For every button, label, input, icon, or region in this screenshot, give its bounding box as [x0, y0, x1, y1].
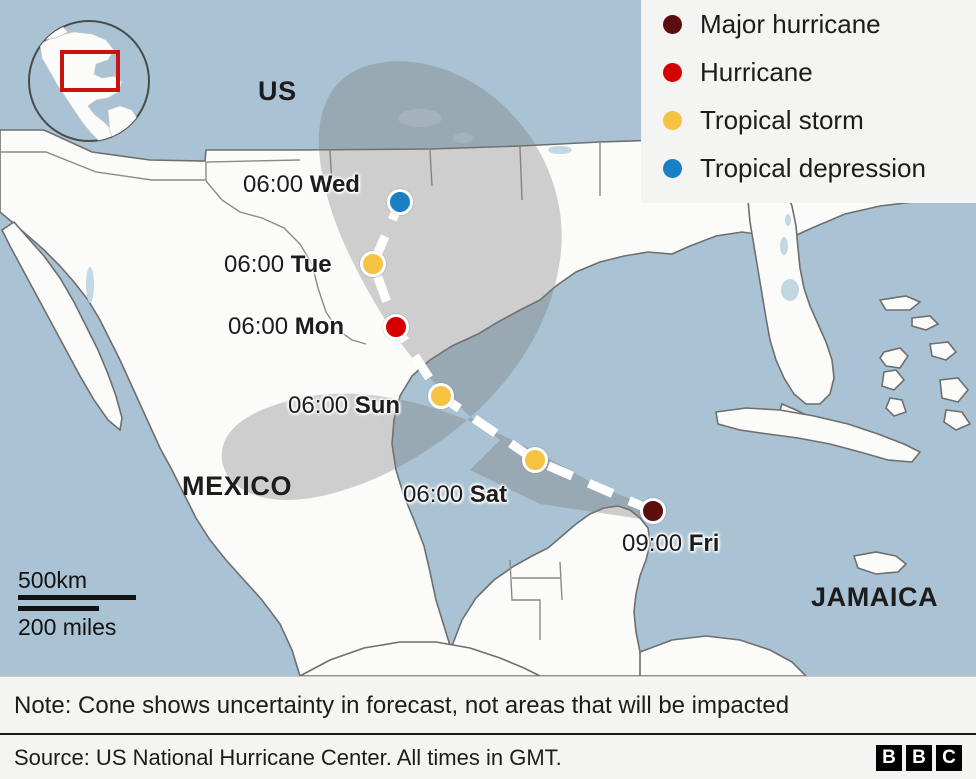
legend-label: Tropical storm [700, 105, 864, 136]
note-bar: Note: Cone shows uncertainty in forecast… [0, 676, 976, 734]
storm-point-wed[interactable] [387, 189, 413, 215]
hurricane-forecast-map-graphic: US MEXICO JAMAICA 09:00 Fri06:00 Sat06:0… [0, 0, 976, 779]
scale-km-label: 500km [18, 568, 193, 592]
globe-locator-inset [22, 14, 156, 148]
bbc-logo: BBC [876, 745, 976, 771]
scale-miles-line [18, 606, 99, 611]
legend-label: Tropical depression [700, 153, 926, 184]
country-label-mexico: MEXICO [182, 471, 292, 502]
legend-label: Hurricane [700, 57, 813, 88]
track-label-time: 06:00 [288, 392, 348, 419]
storm-point-sat[interactable] [522, 447, 548, 473]
scale-km-line [18, 595, 136, 600]
legend-item-0: Major hurricane [641, 0, 976, 48]
bbc-logo-letter-2: C [936, 745, 962, 771]
scale-bar: 500km 200 miles [18, 568, 193, 639]
map-canvas[interactable]: US MEXICO JAMAICA 09:00 Fri06:00 Sat06:0… [0, 0, 976, 676]
track-label-time: 06:00 [403, 481, 463, 508]
dot-icon [663, 159, 682, 178]
legend-panel: Major hurricaneHurricaneTropical stormTr… [641, 0, 976, 203]
track-label-time: 06:00 [243, 171, 303, 198]
storm-point-mon[interactable] [383, 314, 409, 340]
legend-item-3: Tropical depression [641, 144, 976, 192]
scale-miles-label: 200 miles [18, 615, 193, 639]
track-label-day: Wed [310, 171, 360, 198]
track-label-tue: 06:00 Tue [224, 251, 332, 279]
source-text: Source: US National Hurricane Center. Al… [0, 745, 562, 771]
legend-label: Major hurricane [700, 9, 881, 40]
legend-item-2: Tropical storm [641, 96, 976, 144]
legend-rows: Major hurricaneHurricaneTropical stormTr… [641, 0, 976, 192]
dot-icon [663, 63, 682, 82]
track-label-time: 09:00 [622, 530, 682, 557]
source-bar: Source: US National Hurricane Center. Al… [0, 733, 976, 779]
track-label-sun: 06:00 Sun [288, 392, 400, 420]
storm-point-tue[interactable] [360, 251, 386, 277]
storm-point-fri[interactable] [640, 498, 666, 524]
track-label-mon: 06:00 Mon [228, 313, 344, 341]
track-label-wed: 06:00 Wed [243, 171, 360, 199]
track-label-sat: 06:00 Sat [403, 481, 507, 509]
track-label-day: Sun [355, 392, 400, 419]
track-label-day: Sat [470, 481, 507, 508]
dot-icon [663, 15, 682, 34]
track-label-day: Mon [295, 313, 344, 340]
bbc-logo-letter-0: B [876, 745, 902, 771]
note-text: Note: Cone shows uncertainty in forecast… [0, 692, 789, 720]
track-label-day: Fri [689, 530, 720, 557]
country-label-jamaica: JAMAICA [811, 582, 938, 613]
bbc-logo-letter-1: B [906, 745, 932, 771]
legend-item-1: Hurricane [641, 48, 976, 96]
track-label-fri: 09:00 Fri [622, 530, 719, 558]
dot-icon [663, 111, 682, 130]
track-label-time: 06:00 [224, 251, 284, 278]
track-label-time: 06:00 [228, 313, 288, 340]
track-label-day: Tue [291, 251, 332, 278]
storm-point-sun[interactable] [428, 383, 454, 409]
country-label-us: US [258, 76, 297, 107]
